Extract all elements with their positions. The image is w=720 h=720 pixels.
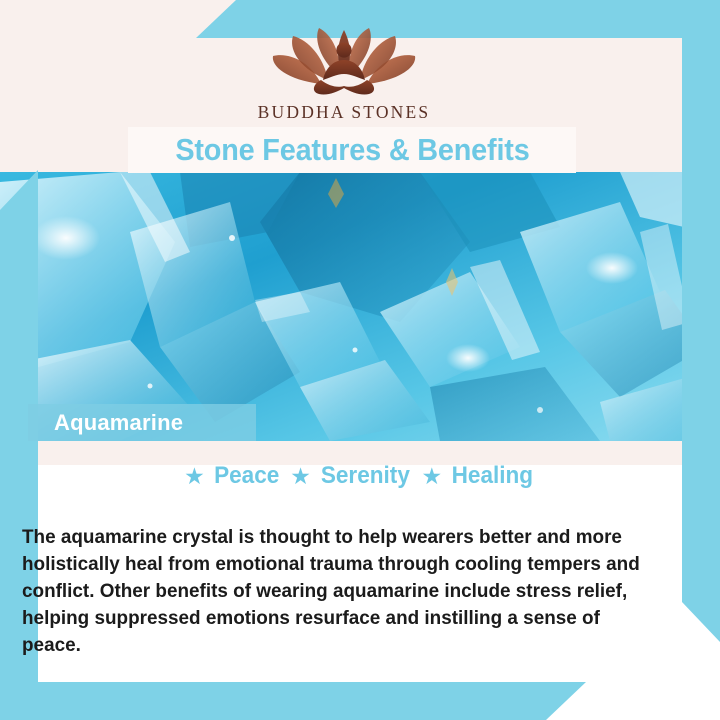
poster-canvas: BUDDHA STONES Stone Features & Benefits … [0, 0, 720, 720]
keyword-label: Serenity [321, 462, 410, 490]
keyword-item: ★ Peace [184, 462, 281, 490]
title-banner: Stone Features & Benefits [128, 127, 576, 173]
stone-description: The aquamarine crystal is thought to hel… [22, 524, 657, 659]
lotus-meditation-icon [259, 22, 429, 98]
keyword-label: Healing [452, 462, 533, 490]
keyword-item: ★ Healing [422, 462, 536, 490]
brand-name: BUDDHA STONES [258, 102, 431, 123]
hero-image [0, 172, 706, 441]
keyword-label: Peace [214, 462, 279, 490]
star-icon: ★ [290, 465, 311, 488]
stone-name-text: Aquamarine [54, 410, 183, 436]
keyword-item: ★ Serenity [290, 462, 412, 490]
star-icon: ★ [184, 465, 205, 488]
star-icon: ★ [422, 465, 443, 488]
aquamarine-crystal-illustration [0, 172, 706, 441]
benefit-keywords: ★ Peace ★ Serenity ★ Healing [0, 462, 720, 490]
brand-logo: BUDDHA STONES [0, 22, 688, 123]
stone-name-label: Aquamarine [28, 404, 256, 441]
page-title: Stone Features & Benefits [175, 132, 529, 168]
frame-band-bottom [0, 682, 586, 720]
